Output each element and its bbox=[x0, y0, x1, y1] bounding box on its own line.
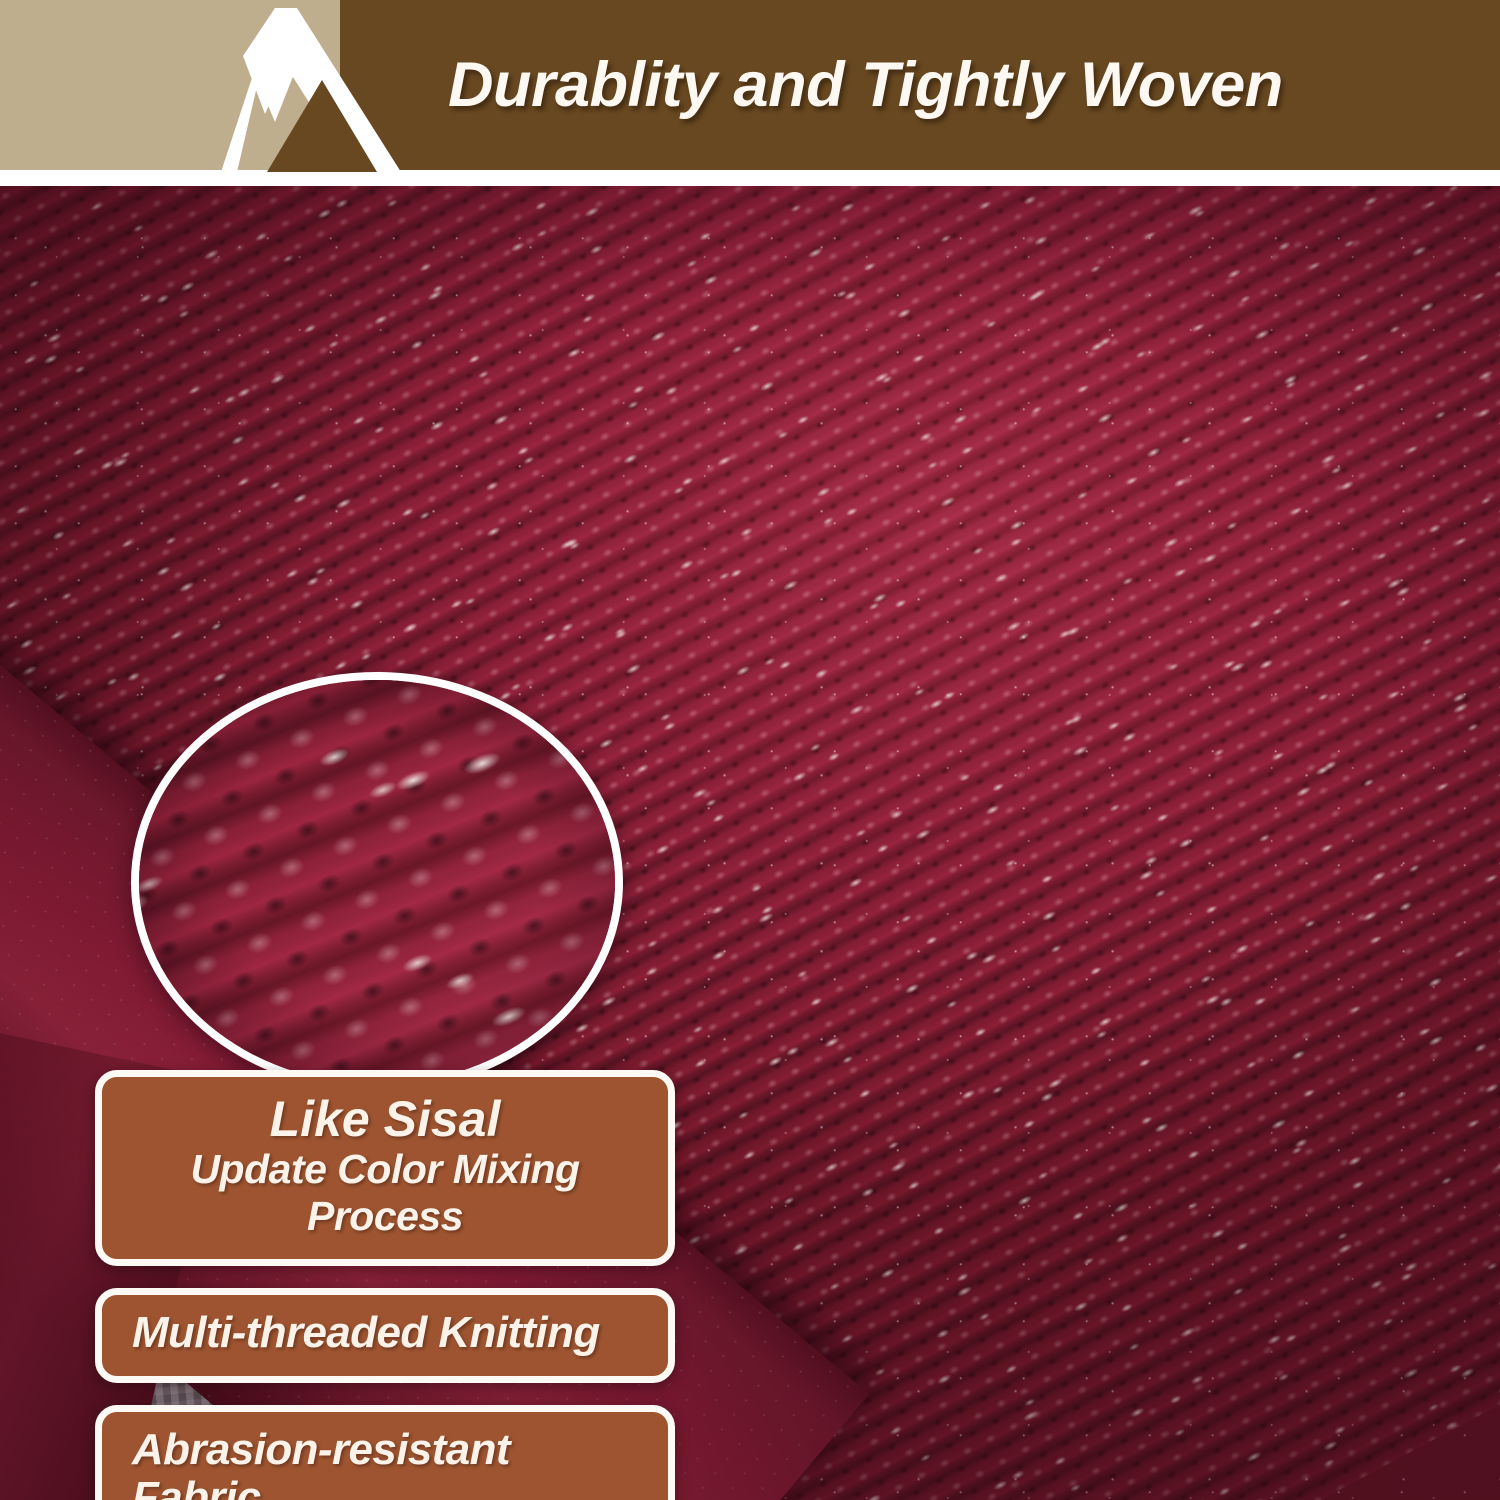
badge-headline: Multi-threaded Knitting bbox=[124, 1309, 646, 1357]
badge-headline: Like Sisal bbox=[124, 1093, 646, 1146]
banner-bottom-strip bbox=[0, 170, 1500, 186]
mountain-m-logo-icon bbox=[115, 0, 415, 172]
feature-badge-list: Like Sisal Update Color Mixing Process M… bbox=[95, 1070, 675, 1500]
banner-title: Durablity and Tightly Woven bbox=[448, 0, 1283, 170]
feature-badge-abrasion-resistant-fabric[interactable]: Abrasion-resistant Fabric bbox=[95, 1405, 675, 1500]
header-banner: Durablity and Tightly Woven bbox=[0, 0, 1500, 186]
magnifier-vignette bbox=[139, 680, 615, 1084]
magnifier-inset-circle bbox=[131, 672, 623, 1092]
feature-badge-multi-threaded-knitting[interactable]: Multi-threaded Knitting bbox=[95, 1288, 675, 1382]
badge-subline: Update Color Mixing Process bbox=[124, 1146, 646, 1239]
product-feature-banner: Durablity and Tightly Woven Like Sisal U… bbox=[0, 0, 1500, 1500]
badge-headline: Abrasion-resistant Fabric bbox=[124, 1426, 646, 1500]
feature-badge-like-sisal[interactable]: Like Sisal Update Color Mixing Process bbox=[95, 1070, 675, 1266]
